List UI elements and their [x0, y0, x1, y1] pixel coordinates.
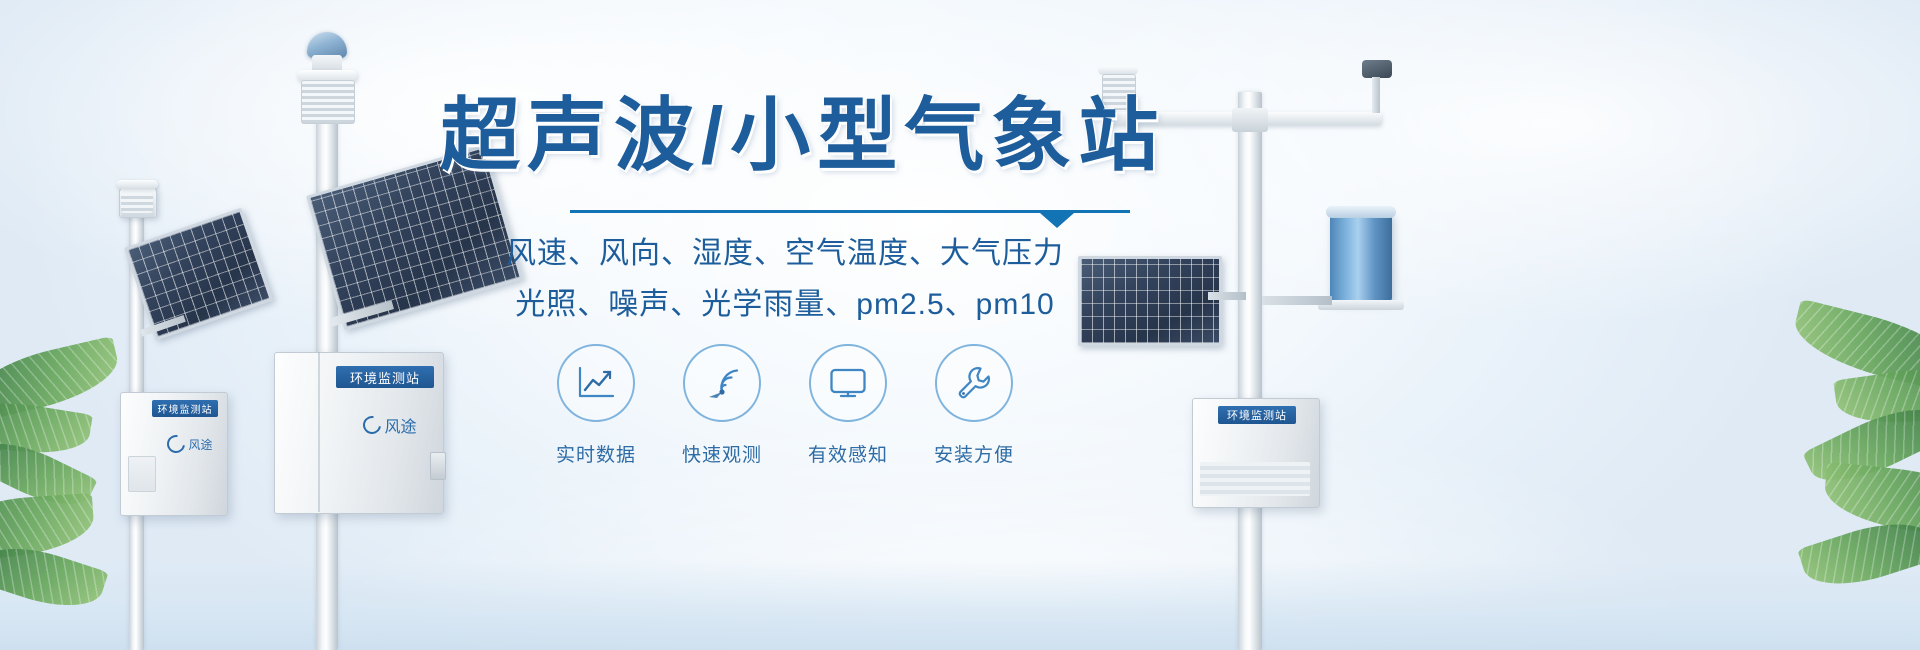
subtitle-line-1: 风速、风向、湿度、空气温度、大气压力	[440, 230, 1130, 279]
feature-circle-1	[557, 344, 635, 422]
feature-circle-2	[683, 344, 761, 422]
cabinet-vent-small	[128, 456, 156, 492]
anemometer-stem-right	[1372, 77, 1380, 113]
rain-gauge-rim-right	[1326, 206, 1396, 218]
cabinet-name-plate-small: 环境监测站	[152, 400, 218, 417]
cabinet-label-left-large: 环境监测站	[350, 368, 420, 387]
cabinet-door-seam-large	[318, 352, 320, 512]
cross-arm-bracket-right	[1232, 108, 1268, 132]
feature-label-3: 有效感知	[792, 440, 904, 467]
mast-pole-right	[1238, 92, 1262, 650]
product-banner: 环境监测站 风途 环境监测站 风途	[0, 0, 1920, 650]
feature-item-realtime-data[interactable]: 实时数据	[540, 344, 652, 467]
chart-line-icon	[577, 366, 615, 400]
monitor-icon	[829, 367, 867, 399]
ground-haze	[0, 560, 1920, 650]
feature-item-effective-sensing[interactable]: 有效感知	[792, 344, 904, 467]
feature-item-fast-observation[interactable]: 快速观测	[666, 344, 778, 467]
title-divider	[440, 200, 1130, 226]
radiation-shield-louvers-large	[301, 80, 355, 124]
signal-waves-icon	[703, 365, 741, 401]
cabinet-brand-small: 风途	[160, 436, 220, 452]
divider-triangle-icon	[1040, 213, 1074, 228]
feature-list: 实时数据 快速观测 有效感知	[540, 344, 1030, 467]
cabinet-name-plate-large: 环境监测站	[336, 366, 434, 388]
brand-text-left-large: 风途	[384, 413, 416, 437]
anemometer-head-right	[1362, 60, 1392, 78]
feature-label-4: 安装方便	[918, 440, 1030, 467]
brand-mark-icon-large	[360, 412, 385, 437]
solar-panel-arm-right	[1208, 292, 1246, 300]
cabinet-label-left-small: 环境监测站	[158, 401, 213, 416]
brand-text-left-small: 风途	[188, 436, 212, 453]
wrench-icon	[956, 365, 992, 401]
cabinet-latch-large	[430, 452, 446, 480]
banner-text-block: 超声波/小型气象站 风速、风向、湿度、空气温度、大气压力 光照、噪声、光学雨量、…	[440, 96, 1130, 329]
cabinet-vent-right	[1200, 462, 1310, 496]
rain-gauge-arm-right	[1262, 296, 1332, 305]
shield-cap-small	[116, 180, 158, 189]
feature-label-1: 实时数据	[540, 440, 652, 467]
rain-gauge-right	[1330, 212, 1392, 302]
subtitle-line-2: 光照、噪声、光学雨量、pm2.5、pm10	[440, 281, 1130, 330]
cabinet-label-right: 环境监测站	[1227, 407, 1287, 423]
feature-item-easy-install[interactable]: 安装方便	[918, 344, 1030, 467]
cabinet-brand-large: 风途	[348, 415, 432, 435]
cabinet-name-plate-right: 环境监测站	[1218, 406, 1296, 424]
page-title: 超声波/小型气象站	[440, 96, 1130, 176]
feature-circle-4	[935, 344, 1013, 422]
shield-louvers-small	[121, 193, 153, 213]
feature-circle-3	[809, 344, 887, 422]
feature-label-2: 快速观测	[666, 440, 778, 467]
